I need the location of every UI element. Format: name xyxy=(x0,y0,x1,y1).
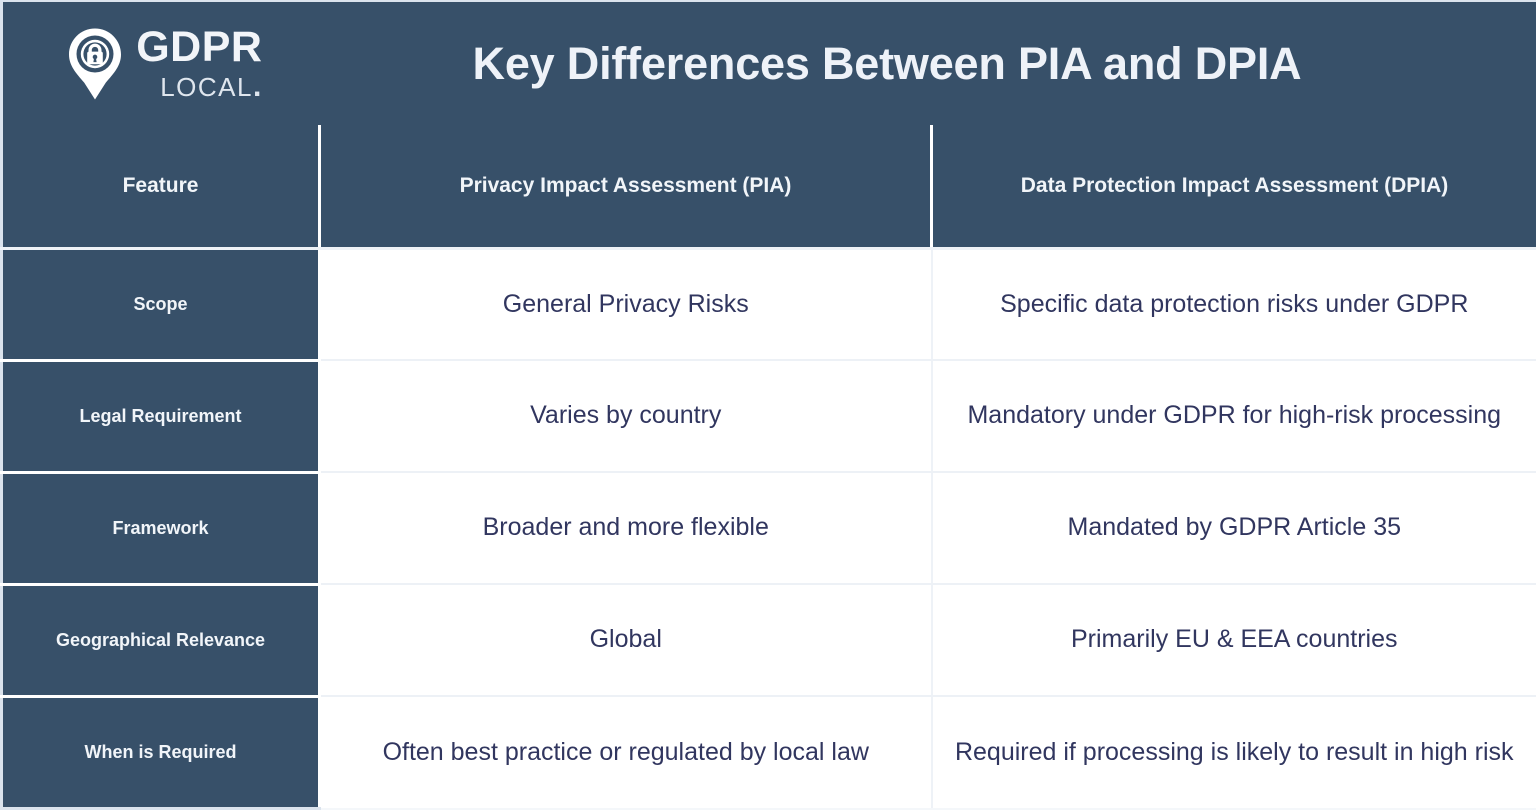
infographic-root: GDPR LOCAL. Key Differences Between PIA … xyxy=(0,0,1536,810)
table-row: Scope General Privacy Risks Specific dat… xyxy=(2,248,1536,360)
table-header: Feature Privacy Impact Assessment (PIA) … xyxy=(2,125,1536,248)
table-body: Scope General Privacy Risks Specific dat… xyxy=(2,248,1536,808)
column-header-pia: Privacy Impact Assessment (PIA) xyxy=(320,125,932,248)
row-label: Legal Requirement xyxy=(2,360,320,472)
cell-pia: Often best practice or regulated by loca… xyxy=(320,696,932,808)
comparison-table: Feature Privacy Impact Assessment (PIA) … xyxy=(0,125,1536,810)
cell-pia: Broader and more flexible xyxy=(320,472,932,584)
table-row: Geographical Relevance Global Primarily … xyxy=(2,584,1536,696)
brand-name-primary: GDPR xyxy=(136,26,263,69)
column-header-dpia: Data Protection Impact Assessment (DPIA) xyxy=(932,125,1536,248)
map-pin-lock-icon xyxy=(64,27,126,101)
cell-dpia: Primarily EU & EEA countries xyxy=(932,584,1536,696)
table-header-row: Feature Privacy Impact Assessment (PIA) … xyxy=(2,125,1536,248)
column-header-feature: Feature xyxy=(2,125,320,248)
cell-dpia: Required if processing is likely to resu… xyxy=(932,696,1536,808)
cell-pia: General Privacy Risks xyxy=(320,248,932,360)
table-row: Framework Broader and more flexible Mand… xyxy=(2,472,1536,584)
row-label: Scope xyxy=(2,248,320,360)
brand-wordmark: GDPR LOCAL. xyxy=(136,26,263,102)
page-title: Key Differences Between PIA and DPIA xyxy=(318,38,1536,90)
cell-pia: Global xyxy=(320,584,932,696)
cell-pia: Varies by country xyxy=(320,360,932,472)
brand-name-secondary: LOCAL. xyxy=(136,72,263,102)
page-banner: GDPR LOCAL. Key Differences Between PIA … xyxy=(0,0,1536,125)
cell-dpia: Specific data protection risks under GDP… xyxy=(932,248,1536,360)
table-row: Legal Requirement Varies by country Mand… xyxy=(2,360,1536,472)
cell-dpia: Mandatory under GDPR for high-risk proce… xyxy=(932,360,1536,472)
row-label: Framework xyxy=(2,472,320,584)
row-label: Geographical Relevance xyxy=(2,584,320,696)
table-row: When is Required Often best practice or … xyxy=(2,696,1536,808)
cell-dpia: Mandated by GDPR Article 35 xyxy=(932,472,1536,584)
row-label: When is Required xyxy=(2,696,320,808)
brand-logo: GDPR LOCAL. xyxy=(3,2,318,125)
brand-dot: . xyxy=(253,70,263,103)
